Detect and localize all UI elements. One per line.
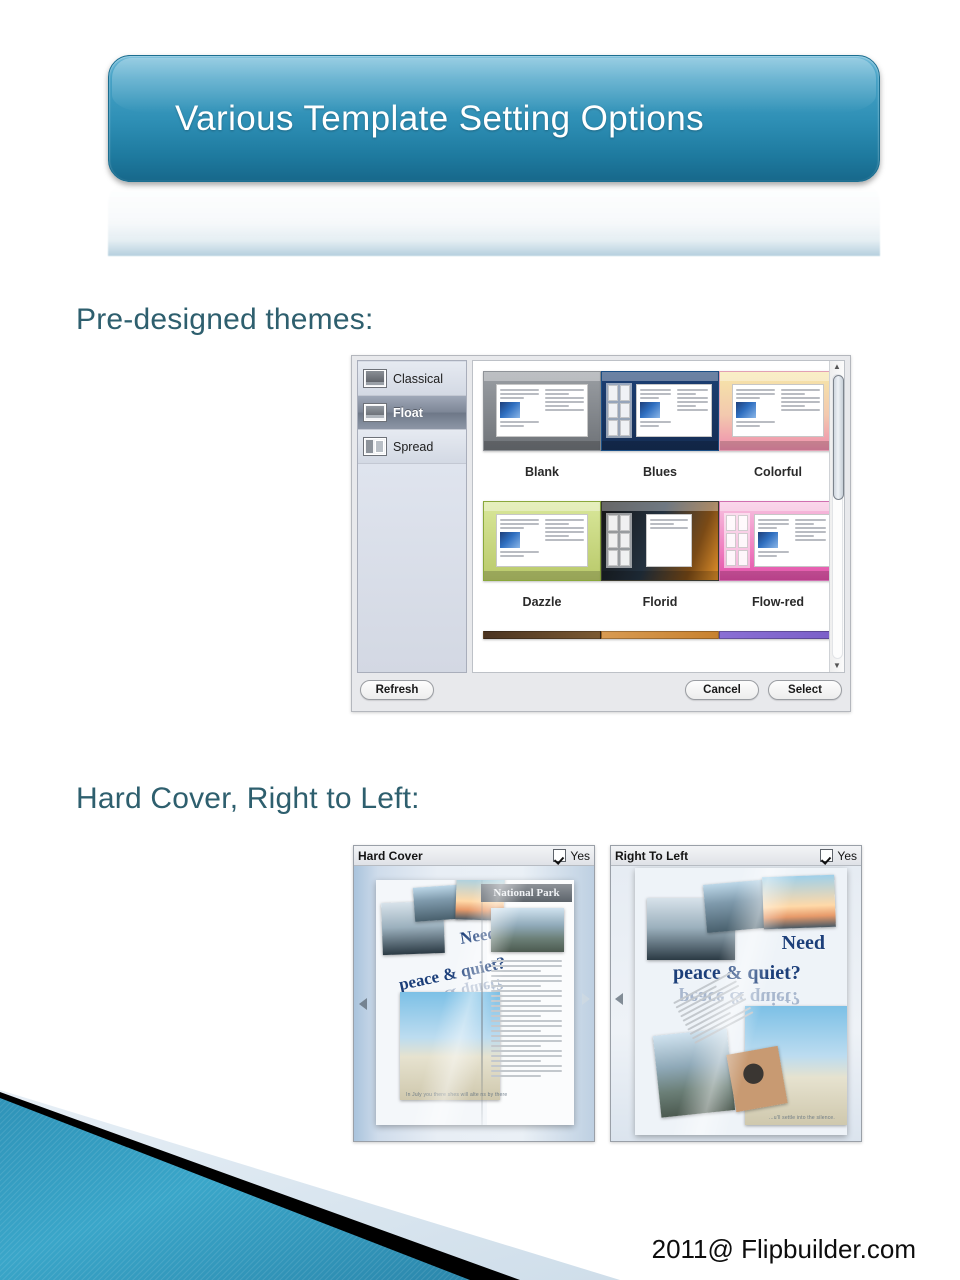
layout-spread-icon (363, 437, 387, 456)
thumb-footer (602, 441, 718, 450)
layout-float-icon (363, 403, 387, 422)
thumb-page (496, 514, 588, 567)
flipbook-spread: Need peace & quiet? peace & quiet? ...u'… (635, 868, 847, 1135)
thumb-toolbar (602, 502, 718, 511)
thumb-sidebar-panel (606, 513, 632, 568)
theme-item-blues[interactable]: Blues (601, 371, 719, 501)
section-heading-hardcover: Hard Cover, Right to Left: (76, 782, 420, 816)
theme-item-partial[interactable] (601, 631, 719, 672)
footer-credit: 2011@ Flipbuilder.com (652, 1234, 916, 1265)
thumb-toolbar (720, 372, 829, 381)
prev-page-arrow-icon[interactable] (615, 993, 623, 1005)
section-heading-themes: Pre-designed themes: (76, 303, 374, 337)
artwork-caption: ...u'll settle into the silence. (769, 1115, 835, 1121)
photo-portrait (726, 1046, 787, 1112)
theme-grid: Blank Blues (473, 361, 829, 672)
theme-item-flow-red[interactable]: Flow-red (719, 501, 829, 631)
theme-item-partial[interactable] (483, 631, 601, 672)
dialog-action-buttons: Cancel Select (685, 680, 842, 700)
thumb-sidebar-panel (606, 383, 632, 438)
hard-cover-label: Hard Cover (358, 849, 423, 863)
corner-decoration-svg (0, 1050, 620, 1280)
right-to-left-header: Right To Left Yes (611, 846, 861, 866)
theme-thumbnail (601, 631, 719, 639)
cancel-button[interactable]: Cancel (685, 680, 759, 700)
right-to-left-checkbox-group[interactable]: Yes (820, 849, 857, 863)
theme-label: Flow-red (752, 595, 804, 609)
next-page-arrow-icon[interactable] (582, 993, 590, 1005)
theme-item-partial[interactable] (719, 631, 829, 672)
hard-cover-header: Hard Cover Yes (354, 846, 594, 866)
theme-item-blank[interactable]: Blank (483, 371, 601, 501)
layout-classical-icon (363, 369, 387, 388)
photo-lighthouse (762, 875, 836, 929)
scrollbar-track[interactable] (832, 374, 843, 659)
theme-item-dazzle[interactable]: Dazzle (483, 501, 601, 631)
banner-reflection (108, 184, 880, 256)
theme-label: Florid (643, 595, 678, 609)
right-to-left-preview-panel: Right To Left Yes Need peace & quiet? pe… (610, 845, 862, 1142)
hard-cover-checkbox-label: Yes (570, 849, 590, 863)
theme-item-colorful[interactable]: Colorful (719, 371, 829, 501)
thumb-page (754, 514, 829, 567)
theme-category-label: Float (393, 406, 423, 420)
theme-selection-dialog: Classical Float Spread (351, 355, 851, 712)
section-band-national-park: National Park (481, 884, 572, 902)
title-banner: Various Template Setting Options (108, 55, 880, 182)
scroll-up-icon[interactable]: ▲ (833, 363, 841, 371)
theme-thumbnail (601, 371, 719, 451)
title-banner-group: Various Template Setting Options (108, 55, 880, 255)
thumb-toolbar (484, 502, 600, 511)
thumb-toolbar (484, 372, 600, 381)
theme-label: Colorful (754, 465, 802, 479)
theme-grid-panel: Blank Blues (472, 360, 845, 673)
right-to-left-checkbox-label: Yes (837, 849, 857, 863)
headline-need: Need (782, 932, 825, 955)
sidebar-empty-space (358, 464, 466, 672)
theme-category-float[interactable]: Float (358, 396, 466, 430)
right-to-left-stage[interactable]: Need peace & quiet? peace & quiet? ...u'… (611, 866, 861, 1141)
theme-item-florid[interactable]: Florid (601, 501, 719, 631)
thumb-toolbar (720, 502, 829, 511)
slide-canvas: Various Template Setting Options Pre-des… (0, 0, 960, 1280)
scrollbar-thumb[interactable] (833, 375, 844, 500)
theme-label: Blues (643, 465, 677, 479)
theme-label: Blank (525, 465, 559, 479)
theme-thumbnail (719, 631, 829, 639)
page-title: Various Template Setting Options (109, 99, 704, 139)
theme-category-label: Classical (393, 372, 443, 386)
thumb-footer (484, 571, 600, 580)
thumb-footer (720, 441, 829, 450)
theme-category-label: Spread (393, 440, 433, 454)
thumb-sidebar-panel (724, 513, 750, 568)
prev-page-arrow-icon[interactable] (359, 998, 367, 1010)
right-to-left-label: Right To Left (615, 849, 688, 863)
refresh-button[interactable]: Refresh (360, 680, 434, 700)
thumb-page (496, 384, 588, 437)
thumb-page (732, 384, 824, 437)
thumb-page (636, 384, 712, 437)
hard-cover-checkbox[interactable] (553, 849, 566, 862)
corner-decoration (0, 1050, 620, 1280)
dialog-footer: Refresh Cancel Select (357, 673, 845, 707)
thumb-page (646, 514, 692, 567)
select-button[interactable]: Select (768, 680, 842, 700)
thumb-footer (602, 571, 718, 580)
dialog-body: Classical Float Spread (357, 360, 845, 673)
theme-thumbnail (719, 501, 829, 581)
theme-category-spread[interactable]: Spread (358, 430, 466, 464)
theme-label: Dazzle (523, 595, 562, 609)
theme-category-list: Classical Float Spread (357, 360, 467, 673)
scroll-down-icon[interactable]: ▼ (833, 662, 841, 670)
hard-cover-checkbox-group[interactable]: Yes (553, 849, 590, 863)
theme-thumbnail (483, 501, 601, 581)
theme-thumbnail (719, 371, 829, 451)
right-to-left-checkbox[interactable] (820, 849, 833, 862)
thumb-footer (484, 441, 600, 450)
thumb-footer (720, 571, 829, 580)
thumb-toolbar (602, 372, 718, 381)
theme-category-classical[interactable]: Classical (358, 362, 466, 396)
theme-grid-scrollbar[interactable]: ▲ ▼ (829, 361, 844, 672)
theme-thumbnail (483, 631, 601, 639)
theme-thumbnail (601, 501, 719, 581)
theme-thumbnail (483, 371, 601, 451)
photo-mountain (491, 908, 564, 952)
